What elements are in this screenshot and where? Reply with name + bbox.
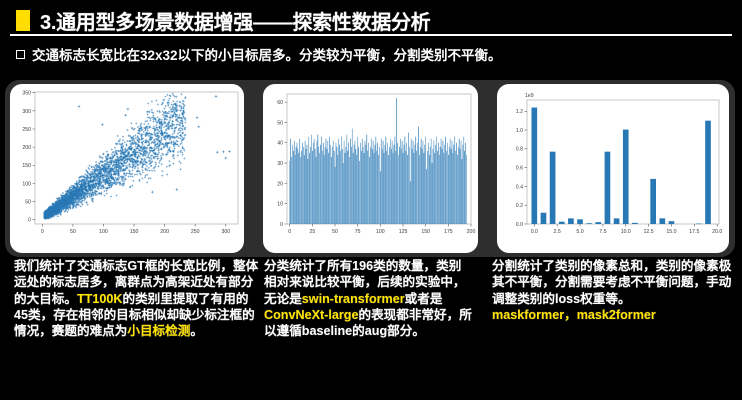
svg-text:350: 350 <box>22 91 31 97</box>
svg-text:250: 250 <box>191 229 200 235</box>
title-marker-icon <box>16 10 30 31</box>
svg-text:50: 50 <box>70 229 76 235</box>
svg-text:300: 300 <box>22 109 31 115</box>
caption-left: 我们统计了交通标志GT框的长宽比例，整体远处的标志居多，离群点为高架近处有部分的… <box>14 258 260 340</box>
scatter-plot-svg: 050100150200250300350050100150200250300 <box>10 84 244 253</box>
svg-text:300: 300 <box>221 229 230 235</box>
svg-text:150: 150 <box>130 229 139 235</box>
figure-strip: 050100150200250300350050100150200250300 … <box>5 80 735 257</box>
svg-text:200: 200 <box>22 145 31 151</box>
chart-panel-class-count: 01020304050600255075100125150175200 <box>263 84 478 253</box>
caption-right-hl1: maskformer，mask2former <box>492 308 656 322</box>
caption-middle-hl2: ConvNeXt-large <box>264 308 358 322</box>
subtitle-text: 交通标志长宽比在32x32以下的小目标居多。分类较为平衡，分割类别不平衡。 <box>32 44 502 64</box>
caption-right: 分割统计了类别的像素总和，类别的像素极其不平衡，分割需要考虑不平衡问题，手动调整… <box>492 258 734 323</box>
caption-right-seg1: 分割统计了类别的像素总和，类别的像素极其不平衡，分割需要考虑不平衡问题，手动调整… <box>492 259 731 306</box>
chart-panel-pixel-sum: 1e90.00.20.40.60.81.01.20.02.55.07.510.0… <box>497 84 729 253</box>
title-divider <box>10 34 732 36</box>
svg-text:100: 100 <box>99 229 108 235</box>
caption-left-hl1: TT100K <box>77 292 123 306</box>
caption-area: 我们统计了交通标志GT框的长宽比例，整体远处的标志居多，离群点为高架近处有部分的… <box>0 258 742 400</box>
chart-panel-scatter: 050100150200250300350050100150200250300 <box>10 84 244 253</box>
caption-middle-seg2: 或者是 <box>405 292 443 306</box>
svg-text:250: 250 <box>22 127 31 133</box>
caption-left-seg3: 。 <box>190 324 203 338</box>
svg-text:150: 150 <box>22 163 31 169</box>
slide-title-row: 3.通用型多场景数据增强——探索性数据分析 <box>16 6 430 35</box>
slide-root: 3.通用型多场景数据增强——探索性数据分析 交通标志长宽比在32x32以下的小目… <box>0 0 742 400</box>
svg-text:100: 100 <box>22 181 31 187</box>
bullet-square-icon <box>16 50 25 59</box>
svg-text:0: 0 <box>41 229 44 235</box>
pixel-sum-bar-svg: 1e90.00.20.40.60.81.01.20.02.55.07.510.0… <box>497 84 729 253</box>
page-title: 3.通用型多场景数据增强——探索性数据分析 <box>40 6 430 35</box>
caption-middle-hl1: swin-transformer <box>302 292 405 306</box>
svg-text:0: 0 <box>28 218 31 224</box>
svg-text:50: 50 <box>25 199 31 205</box>
class-count-bar-svg: 01020304050600255075100125150175200 <box>263 84 478 253</box>
subtitle-bullet-row: 交通标志长宽比在32x32以下的小目标居多。分类较为平衡，分割类别不平衡。 <box>16 44 502 64</box>
svg-text:200: 200 <box>160 229 169 235</box>
caption-left-hl2: 小目标检测 <box>127 324 190 338</box>
caption-middle: 分类统计了所有196类的数量，类别相对来说比较平衡，后续的实验中，无论是swin… <box>264 258 472 340</box>
